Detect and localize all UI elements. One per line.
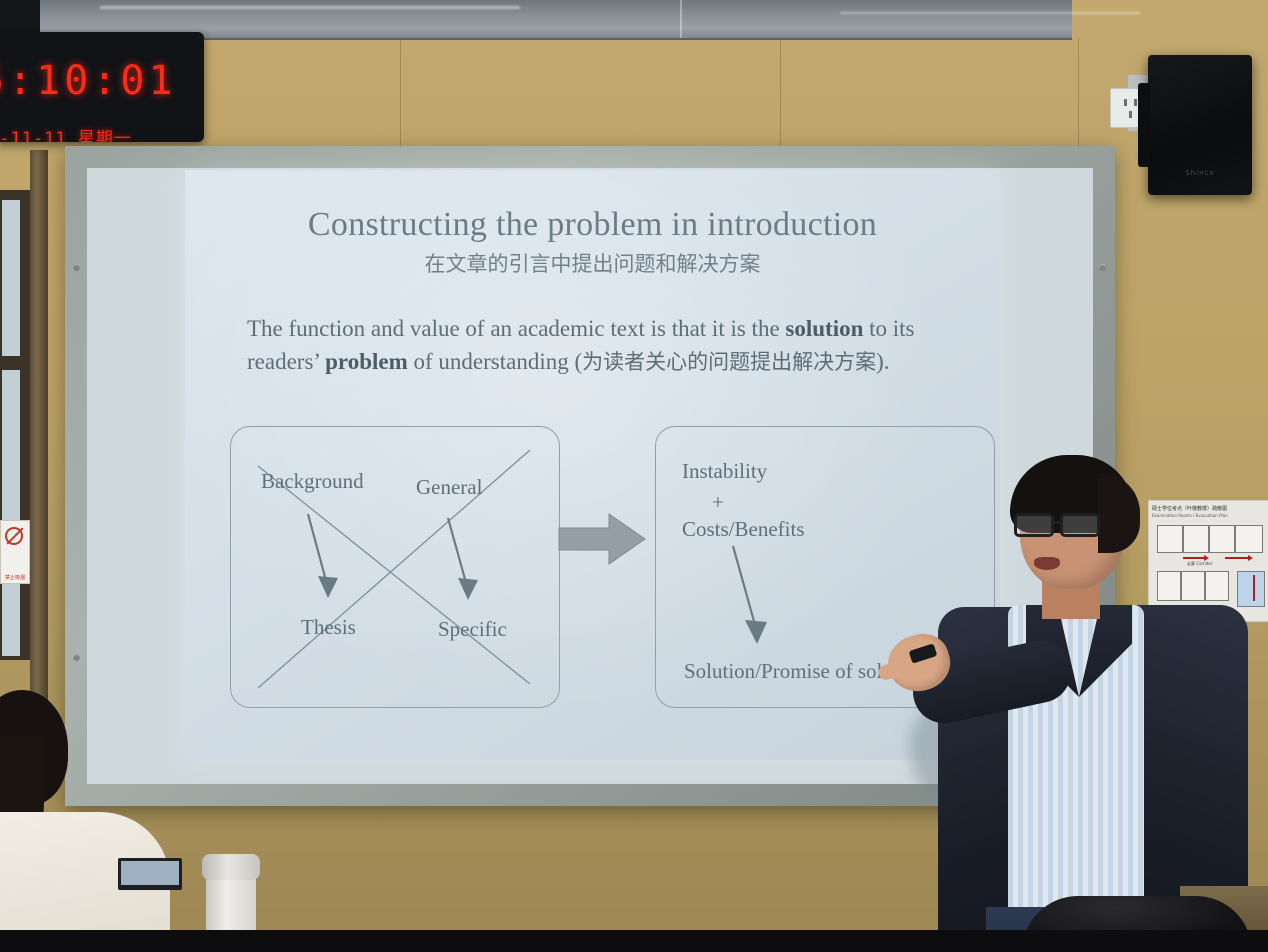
laptop[interactable]: [118, 858, 182, 890]
label-solution: Solution/Promise of sol: [684, 659, 882, 684]
board-screw: [1099, 264, 1106, 271]
ceiling-corner: [0, 0, 42, 32]
label-plus: +: [712, 490, 724, 515]
classroom-scene: 禁止吸烟 5:10:01 4-11-11 星期一 Shinco 硕士学位考点（叶…: [0, 0, 1268, 952]
label-costs-benefits: Costs/Benefits: [682, 517, 805, 542]
board-screw: [73, 264, 80, 271]
label-background: Background: [261, 469, 364, 494]
label-thesis: Thesis: [301, 615, 356, 640]
door-frame: [30, 150, 48, 710]
speaker-brand-label: Shinco: [1148, 169, 1252, 177]
lens-left: [1014, 513, 1054, 537]
eyeglasses: [1014, 513, 1118, 537]
outlet-slot: [1129, 111, 1132, 118]
ceiling-highlight: [100, 6, 520, 9]
slide-subtitle: 在文章的引言中提出问题和解决方案: [185, 248, 1000, 278]
body-line-1: The function and value of an academic te…: [247, 316, 780, 341]
no-smoking-sign: 禁止吸烟: [0, 520, 30, 584]
mouth: [1034, 557, 1060, 570]
lens-right: [1060, 513, 1100, 537]
body-mid-2: of understanding (: [408, 349, 582, 374]
arrow-head: [745, 620, 767, 644]
arrow-head: [318, 576, 338, 598]
presenter: [930, 455, 1268, 952]
arrow-head: [458, 578, 478, 600]
glasses-bridge: [1054, 521, 1062, 524]
foreground-shadow: [0, 930, 1268, 952]
outlet-slot: [1134, 99, 1137, 106]
body-bold-problem: problem: [325, 349, 408, 374]
slide-title: Constructing the problem in introduction: [185, 206, 1000, 244]
clock-time: 5:10:01: [0, 58, 204, 104]
door-glass-panel: [0, 198, 22, 358]
outlet-slot: [1124, 99, 1127, 106]
body-end: ).: [876, 349, 889, 374]
board-screw: [73, 654, 80, 661]
diagram-box-old-model: Background General Thesis Specific: [230, 426, 560, 708]
slide-body-paragraph: The function and value of an academic te…: [247, 312, 947, 379]
wall-speaker: Shinco: [1148, 55, 1252, 195]
body-chinese-gloss: 为读者关心的问题提出解决方案: [582, 350, 876, 374]
arrow-to-solution: [733, 546, 757, 632]
bottle-cap: [202, 854, 260, 880]
laptop-screen: [121, 861, 179, 885]
cross-out-line: [258, 466, 530, 684]
label-instability: Instability: [682, 459, 767, 484]
ceiling-highlight: [840, 12, 1140, 14]
transition-arrow-icon: [557, 510, 647, 568]
label-specific: Specific: [438, 617, 507, 642]
label-general: General: [416, 475, 482, 500]
clock-date: 4-11-11 星期一: [0, 124, 200, 142]
audience-member-left: [0, 690, 200, 952]
no-smoking-label: 禁止吸烟: [2, 575, 28, 581]
speaker-bracket: [1138, 83, 1150, 167]
led-wall-clock: 5:10:01 4-11-11 星期一: [0, 32, 204, 142]
body-bold-solution: solution: [785, 316, 863, 341]
